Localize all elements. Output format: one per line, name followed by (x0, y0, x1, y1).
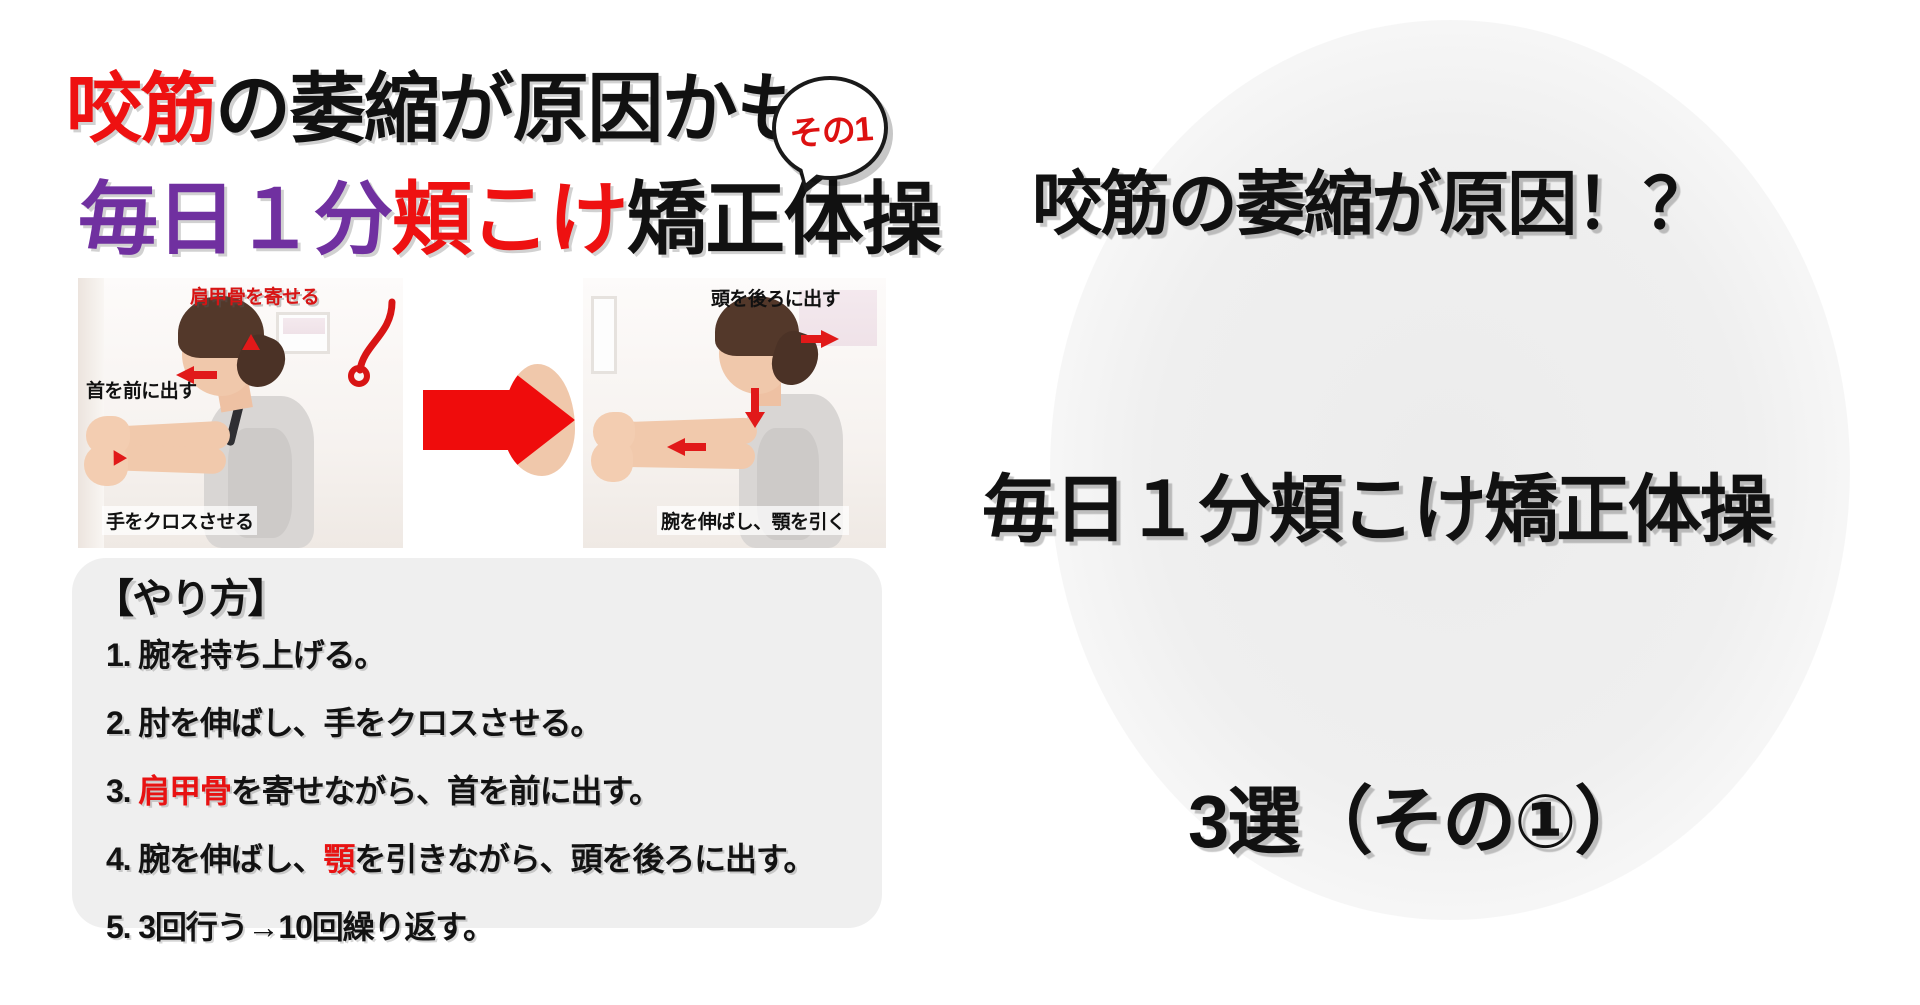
transition-arrow-icon (423, 364, 575, 476)
arm-stretch-arrow-tail (684, 443, 706, 451)
chin-tuck-arrow-icon (745, 412, 765, 428)
speech-bubble-label: その1 (787, 101, 873, 156)
step-3-number: 3. (106, 773, 130, 809)
headline-2-segment-black: 矯正体操 (627, 175, 941, 264)
step-4-text-post: を引きながら、頭を後ろに出す。 (354, 841, 814, 877)
photo-step-before: 肩甲骨を寄せる 首を前に出す 手をクロスさせる (78, 278, 403, 548)
scapula-arrow-icon (242, 334, 260, 350)
caption-neck-forward: 首を前に出す (86, 376, 197, 403)
sono1-speech-bubble: その1 (772, 76, 888, 180)
step-3-emphasis: 肩甲骨 (138, 773, 231, 809)
arrow-shaft (423, 390, 511, 450)
right-title-panel: 咬筋の萎縮が原因！？ 毎日１分頬こけ矯正体操 3選（その①） (960, 0, 1920, 1005)
step-5-text: 3回行う→10回繰り返す。 (130, 909, 493, 945)
step-3-text-post: を寄せながら、首を前に出す。 (231, 773, 660, 809)
howto-step-2: 2. 肘を伸ばし、手をクロスさせる。 (106, 698, 601, 744)
chin-tuck-arrow-tail (751, 388, 759, 414)
hand-lower-2 (591, 440, 633, 482)
step-2-text: 肘を伸ばし、手をクロスさせる。 (130, 705, 601, 741)
photo-step-after: 頭を後ろに出す 腕を伸ばし、顎を引く (583, 278, 886, 548)
head-back-arrow-icon (821, 330, 839, 348)
howto-title: 【やり方】 (94, 566, 286, 624)
howto-step-4: 4. 腕を伸ばし、顎を引きながら、頭を後ろに出す。 (106, 834, 814, 880)
headline-1-segment-black: の萎縮が原因かも (215, 67, 811, 152)
step-5-number: 5. (106, 909, 130, 945)
caption-hand-cross: 手をクロスさせる (102, 506, 257, 535)
step-1-number: 1. (106, 637, 130, 673)
right-title-line-2: 毎日１分頬こけ矯正体操 (982, 450, 1772, 557)
head-back-arrow-tail (801, 335, 823, 343)
step-4-emphasis: 顎 (324, 841, 355, 877)
headline-2-segment-red: 頬こけ (392, 175, 627, 264)
howto-step-1: 1. 腕を持ち上げる。 (106, 630, 385, 676)
headline-2-segment-purple: 毎日１分 (78, 175, 392, 264)
caption-scapula: 肩甲骨を寄せる (190, 282, 319, 309)
howto-step-3: 3. 肩甲骨を寄せながら、首を前に出す。 (106, 766, 660, 812)
arm-stretch-arrow-icon (667, 438, 685, 456)
caption-arm-chin: 腕を伸ばし、顎を引く (657, 506, 849, 535)
headline-line-1: 咬筋の萎縮が原因かも (66, 72, 811, 148)
step-2-number: 2. (106, 705, 130, 741)
howto-step-5: 5. 3回行う→10回繰り返す。 (106, 902, 494, 948)
neck-forward-arrow-tail (193, 371, 217, 379)
left-poster-panel: 咬筋の萎縮が原因かも 毎日１分頬こけ矯正体操 その1 (0, 0, 960, 1005)
howto-box: 【やり方】 1. 腕を持ち上げる。 2. 肘を伸ばし、手をクロスさせる。 3. … (72, 558, 882, 928)
arrow-head (503, 364, 575, 476)
infographic-canvas: 咬筋の萎縮が原因かも 毎日１分頬こけ矯正体操 その1 (0, 0, 1920, 1005)
step-4-number: 4. (106, 841, 130, 877)
headline-1-segment-red: 咬筋 (66, 67, 215, 152)
speech-bubble-body: その1 (772, 76, 888, 180)
step-1-text: 腕を持ち上げる。 (130, 637, 385, 673)
exercise-photo-strip: 肩甲骨を寄せる 首を前に出す 手をクロスさせる (78, 278, 886, 548)
scapula-swoosh-icon (346, 286, 403, 396)
right-title-line-1: 咬筋の萎縮が原因！？ (1032, 148, 1711, 249)
step-4-text-pre: 腕を伸ばし、 (130, 841, 323, 877)
right-title-line-3: 3選（その①） (1188, 762, 1646, 869)
caption-head-back: 頭を後ろに出す (711, 284, 840, 311)
